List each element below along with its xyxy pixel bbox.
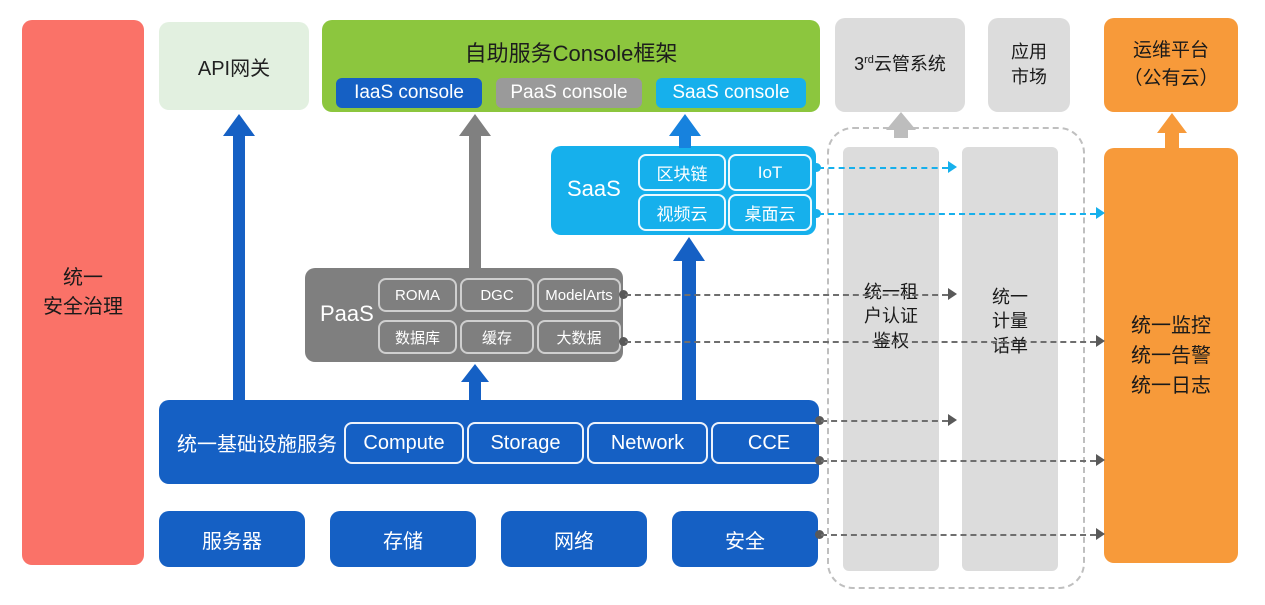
paas-item-roma-label: ROMA: [395, 287, 440, 304]
tenant-auth-line1: 统一租: [843, 280, 939, 304]
conn-arrow-infra-to-ops: [1096, 454, 1105, 466]
paas-panel[interactable]: PaaS ROMA DGC ModelArts 数据库 缓存 大数据: [305, 268, 623, 362]
ops-panel-line1: 统一监控: [1131, 311, 1211, 341]
iaas-console-label: IaaS console: [354, 82, 464, 104]
console-framework-panel[interactable]: 自助服务Console框架 IaaS console PaaS console …: [322, 20, 820, 112]
paas-console-label: PaaS console: [510, 82, 627, 104]
infra-item-storage[interactable]: Storage: [467, 422, 584, 464]
arrow-infra-to-api-gateway: [221, 114, 257, 404]
ops-platform-line2: （公有云）: [1123, 65, 1218, 93]
unified-metering-column[interactable]: [962, 147, 1058, 571]
tenant-auth-line2: 户认证: [843, 304, 939, 328]
app-market-line1: 应用: [1011, 40, 1047, 65]
third-party-cloud-mgmt-box[interactable]: 3rd云管系统: [835, 18, 965, 112]
conn-arrow-infra-to-auth: [948, 414, 957, 426]
infra-item-network[interactable]: Network: [587, 422, 708, 464]
infra-item-storage-label: Storage: [490, 432, 560, 455]
saas-item-iot-label: IoT: [758, 163, 783, 183]
conn-arrow-saas-to-auth: [948, 161, 957, 173]
metering-line1: 统一: [962, 285, 1058, 309]
conn-line-saas-to-ops: [818, 213, 1096, 215]
ops-panel-line2: 统一告警: [1131, 341, 1211, 371]
security-governance-panel[interactable]: 统一 安全治理: [22, 20, 144, 565]
unified-infrastructure-label: 统一基础设施服务: [177, 428, 337, 457]
resource-box-storage[interactable]: 存储: [330, 511, 476, 567]
conn-line-infra-to-auth: [821, 420, 948, 422]
security-governance-line2: 安全治理: [43, 293, 123, 322]
arrow-paas-to-console: [457, 114, 493, 270]
iaas-console-chip[interactable]: IaaS console: [336, 78, 482, 108]
saas-item-blockchain-label: 区块链: [657, 160, 708, 185]
conn-arrow-saas-to-ops: [1096, 207, 1105, 219]
paas-item-cache-label: 缓存: [482, 327, 512, 348]
ops-platform-line1: 运维平台: [1133, 37, 1209, 65]
metering-line2: 计量: [962, 309, 1058, 333]
resource-box-storage-label: 存储: [383, 525, 423, 554]
paas-item-bigdata[interactable]: 大数据: [537, 320, 621, 354]
arrow-to-third-party-cloud-mgmt: [884, 112, 918, 138]
conn-line-paas-to-ops: [625, 341, 1096, 343]
metering-line3: 话单: [962, 334, 1058, 358]
infra-item-compute-label: Compute: [363, 432, 444, 455]
arrow-infra-to-saas: [671, 237, 707, 401]
saas-console-label: SaaS console: [672, 82, 789, 104]
conn-arrow-paas-to-auth: [948, 288, 957, 300]
app-market-box[interactable]: 应用 市场: [988, 18, 1070, 112]
app-market-line2: 市场: [1011, 65, 1047, 90]
arrow-infra-to-paas: [459, 364, 491, 402]
paas-item-bigdata-label: 大数据: [556, 327, 601, 348]
paas-item-roma[interactable]: ROMA: [378, 278, 457, 312]
paas-item-dgc[interactable]: DGC: [460, 278, 534, 312]
resource-box-network-label: 网络: [554, 525, 594, 554]
paas-item-cache[interactable]: 缓存: [460, 320, 534, 354]
saas-item-video-cloud-label: 视频云: [657, 200, 708, 225]
saas-label: SaaS: [567, 176, 621, 202]
security-governance-line1: 统一: [63, 264, 103, 293]
saas-item-video-cloud[interactable]: 视频云: [638, 194, 726, 231]
console-framework-title: 自助服务Console框架: [322, 36, 820, 68]
infra-item-cce-label: CCE: [748, 432, 790, 455]
paas-item-database-label: 数据库: [395, 327, 440, 348]
ops-platform-public-cloud-box[interactable]: 运维平台 （公有云）: [1104, 18, 1238, 112]
resource-box-network[interactable]: 网络: [501, 511, 647, 567]
arrow-saas-to-console: [667, 114, 703, 148]
conn-arrow-paas-to-ops: [1096, 335, 1105, 347]
unified-tenant-auth-column[interactable]: [843, 147, 939, 571]
saas-item-desktop-cloud[interactable]: 桌面云: [728, 194, 812, 231]
unified-ops-panel[interactable]: 统一监控 统一告警 统一日志: [1104, 148, 1238, 563]
arrow-ops-panel-to-ops-platform: [1155, 113, 1189, 149]
unified-infrastructure-bar[interactable]: 统一基础设施服务 Compute Storage Network CCE: [159, 400, 819, 484]
saas-item-iot[interactable]: IoT: [728, 154, 812, 191]
conn-line-infra-to-ops: [821, 460, 1096, 462]
ops-panel-line3: 统一日志: [1131, 371, 1211, 401]
resource-box-security-label: 安全: [725, 525, 765, 554]
infra-item-network-label: Network: [611, 432, 684, 455]
conn-arrow-resources-to-ops: [1096, 528, 1105, 540]
conn-line-resources-to-ops: [821, 534, 1096, 536]
saas-console-chip[interactable]: SaaS console: [656, 78, 806, 108]
infra-item-cce[interactable]: CCE: [711, 422, 827, 464]
conn-line-paas-to-auth: [625, 294, 948, 296]
infra-item-compute[interactable]: Compute: [344, 422, 464, 464]
paas-label: PaaS: [320, 301, 374, 327]
paas-console-chip[interactable]: PaaS console: [496, 78, 642, 108]
resource-box-security[interactable]: 安全: [672, 511, 818, 567]
third-party-cloud-mgmt-label: 3rd云管系统: [854, 52, 946, 77]
paas-item-modelarts[interactable]: ModelArts: [537, 278, 621, 312]
api-gateway-label: API网关: [198, 52, 270, 81]
paas-item-database[interactable]: 数据库: [378, 320, 457, 354]
resource-box-server-label: 服务器: [202, 525, 262, 554]
resource-box-server[interactable]: 服务器: [159, 511, 305, 567]
paas-item-dgc-label: DGC: [480, 287, 513, 304]
saas-item-desktop-cloud-label: 桌面云: [745, 200, 796, 225]
saas-item-blockchain[interactable]: 区块链: [638, 154, 726, 191]
unified-metering-label: 统一 计量 话单: [962, 285, 1058, 358]
saas-panel[interactable]: SaaS 区块链 IoT 视频云 桌面云: [551, 146, 816, 235]
api-gateway-box[interactable]: API网关: [159, 22, 309, 110]
paas-item-modelarts-label: ModelArts: [545, 287, 613, 304]
conn-line-saas-to-auth: [818, 167, 948, 169]
architecture-diagram: 统一 安全治理 API网关 自助服务Console框架 IaaS console…: [0, 0, 1265, 605]
